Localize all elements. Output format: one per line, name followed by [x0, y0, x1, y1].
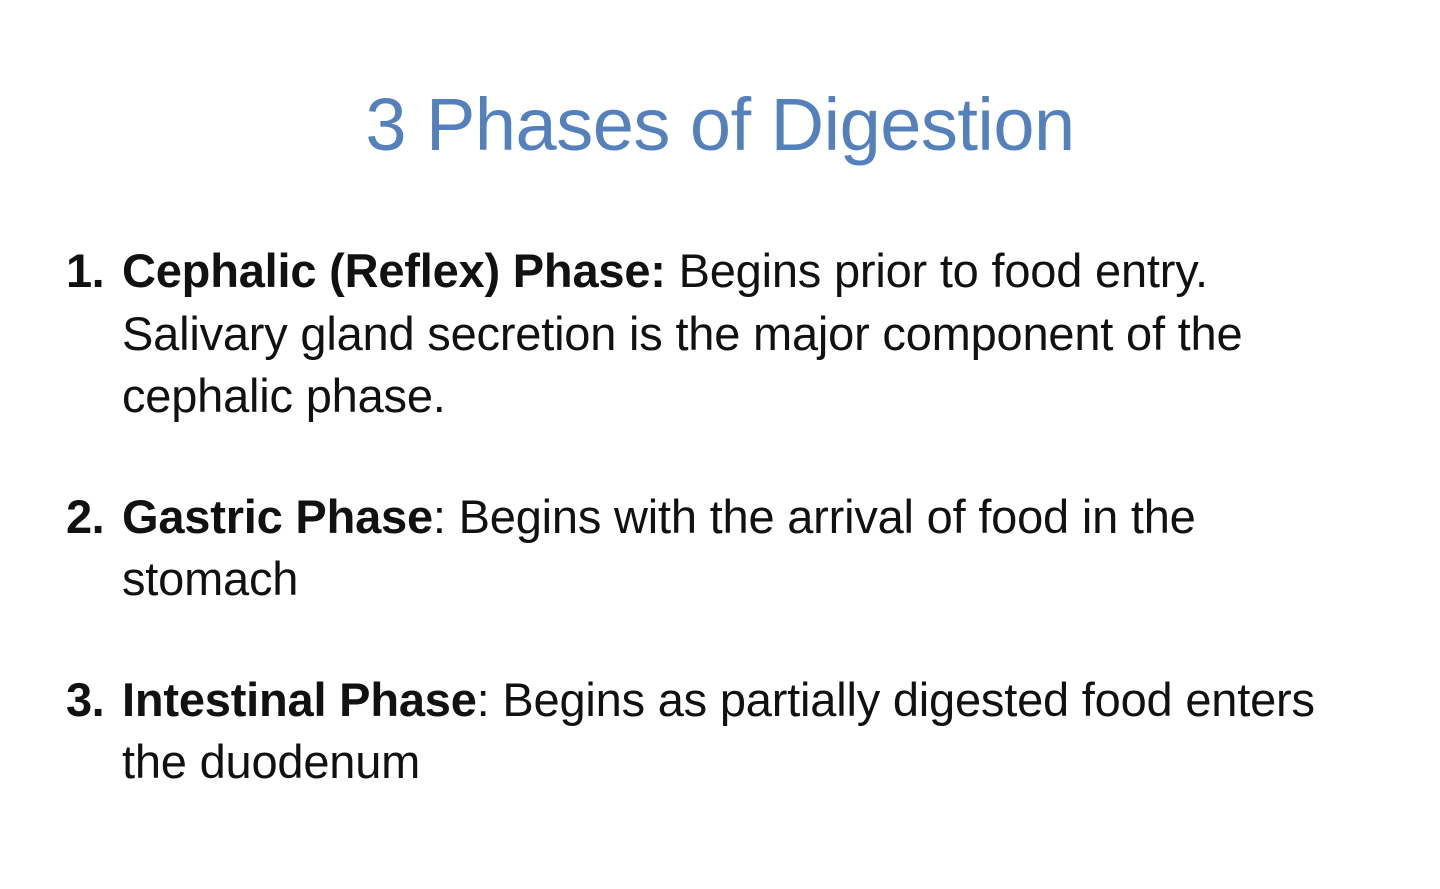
list-item-label: Intestinal Phase	[122, 673, 477, 726]
list-item-label: Gastric Phase	[122, 490, 433, 543]
list-item-number: 3.	[66, 669, 122, 732]
list-item-text: Cephalic (Reflex) Phase: Begins prior to…	[122, 240, 1384, 428]
list-item-number: 2.	[66, 486, 122, 549]
phases-list: 1. Cephalic (Reflex) Phase: Begins prior…	[66, 240, 1396, 794]
slide-canvas: 3 Phases of Digestion 1. Cephalic (Refle…	[0, 0, 1440, 889]
list-item: 2. Gastric Phase: Begins with the arriva…	[66, 486, 1396, 611]
list-item: 1. Cephalic (Reflex) Phase: Begins prior…	[66, 240, 1396, 428]
list-item-label: Cephalic (Reflex) Phase:	[122, 244, 666, 297]
list-item-number: 1.	[66, 240, 122, 303]
list-item-text: Gastric Phase: Begins with the arrival o…	[122, 486, 1384, 611]
page-title: 3 Phases of Digestion	[0, 88, 1440, 162]
list-item-text: Intestinal Phase: Begins as partially di…	[122, 669, 1384, 794]
list-item: 3. Intestinal Phase: Begins as partially…	[66, 669, 1396, 794]
